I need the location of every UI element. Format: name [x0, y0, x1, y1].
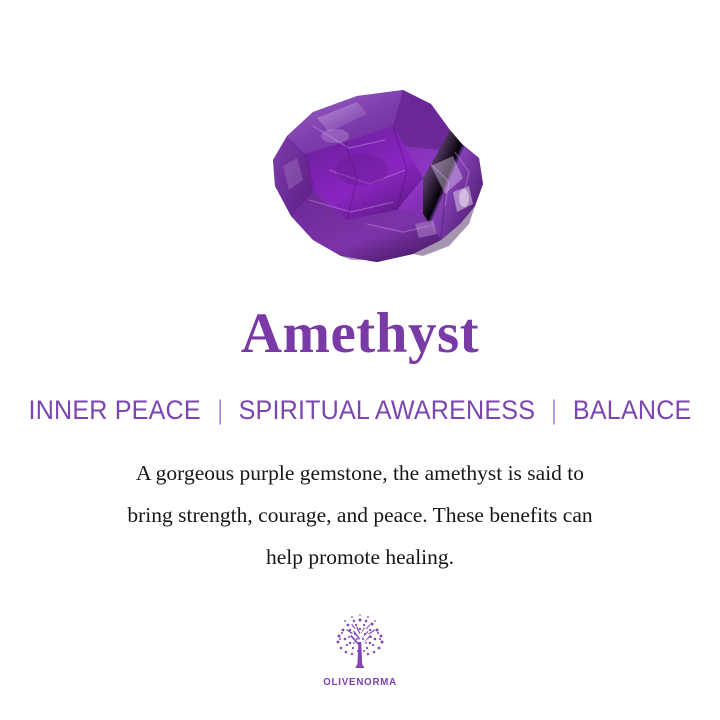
keyword-separator: |	[547, 396, 561, 424]
page-title: Amethyst	[0, 305, 720, 362]
description-line: help promote healing.	[40, 536, 680, 578]
description-paragraph: A gorgeous purple gemstone, the amethyst…	[40, 452, 680, 578]
keyword-separator: |	[213, 396, 227, 424]
description-line: bring strength, courage, and peace. Thes…	[40, 494, 680, 536]
amethyst-raw-crystal-icon	[217, 74, 503, 270]
gemstone-image-container	[0, 72, 720, 272]
keyword-inner-peace: INNER PEACE	[29, 396, 201, 424]
keyword-spiritual-awareness: SPIRITUAL AWARENESS	[239, 396, 536, 424]
description-line: A gorgeous purple gemstone, the amethyst…	[40, 452, 680, 494]
keyword-line: INNER PEACE | SPIRITUAL AWARENESS | BALA…	[25, 396, 695, 424]
brand-logo: OLIVENORMA	[280, 612, 440, 688]
tree-of-life-icon	[328, 612, 392, 674]
keyword-balance: BALANCE	[573, 396, 692, 424]
brand-wordmark: OLIVENORMA	[323, 676, 397, 688]
amethyst-info-card: Amethyst INNER PEACE | SPIRITUAL AWARENE…	[0, 0, 720, 720]
